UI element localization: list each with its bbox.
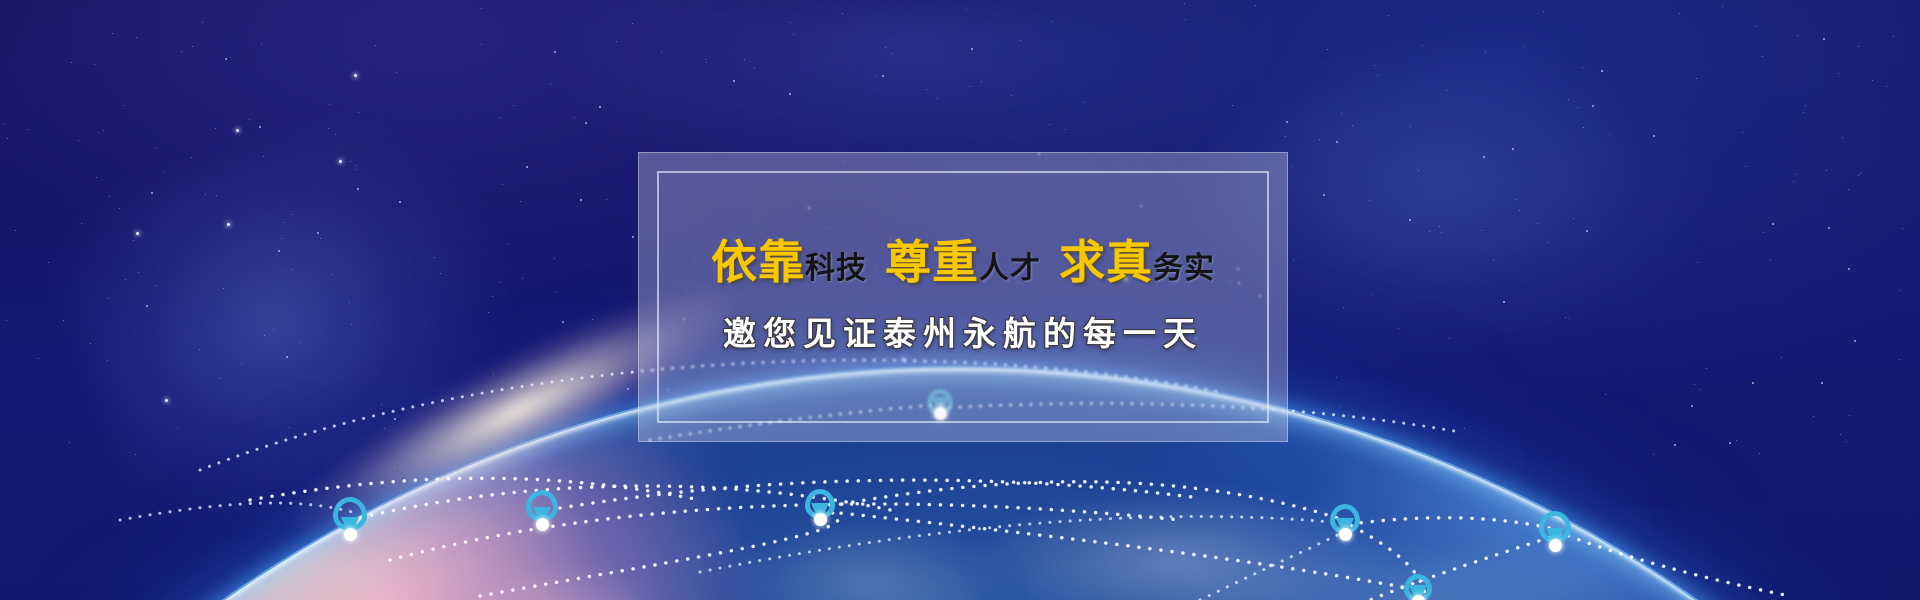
slogan-gold-3: 求真: [1059, 235, 1153, 289]
slogan-gold-1: 依靠: [711, 235, 805, 289]
hero-banner: .d { fill:none; stroke:#ffffff; stroke-w…: [0, 0, 1920, 600]
slogan-gold-2: 尊重: [885, 235, 979, 289]
slogan-dark-3: 务实: [1153, 251, 1215, 286]
slogan-panel: 依靠科技尊重人才求真务实 邀您见证泰州永航的每一天: [638, 152, 1288, 442]
slogan-dark-2: 人才: [979, 251, 1041, 286]
slogan-headline: 依靠科技尊重人才求真务实: [711, 239, 1215, 285]
slogan-content: 依靠科技尊重人才求真务实 邀您见证泰州永航的每一天: [639, 153, 1287, 441]
slogan-dark-1: 科技: [805, 251, 867, 286]
slogan-subline: 邀您见证泰州永航的每一天: [723, 307, 1203, 355]
